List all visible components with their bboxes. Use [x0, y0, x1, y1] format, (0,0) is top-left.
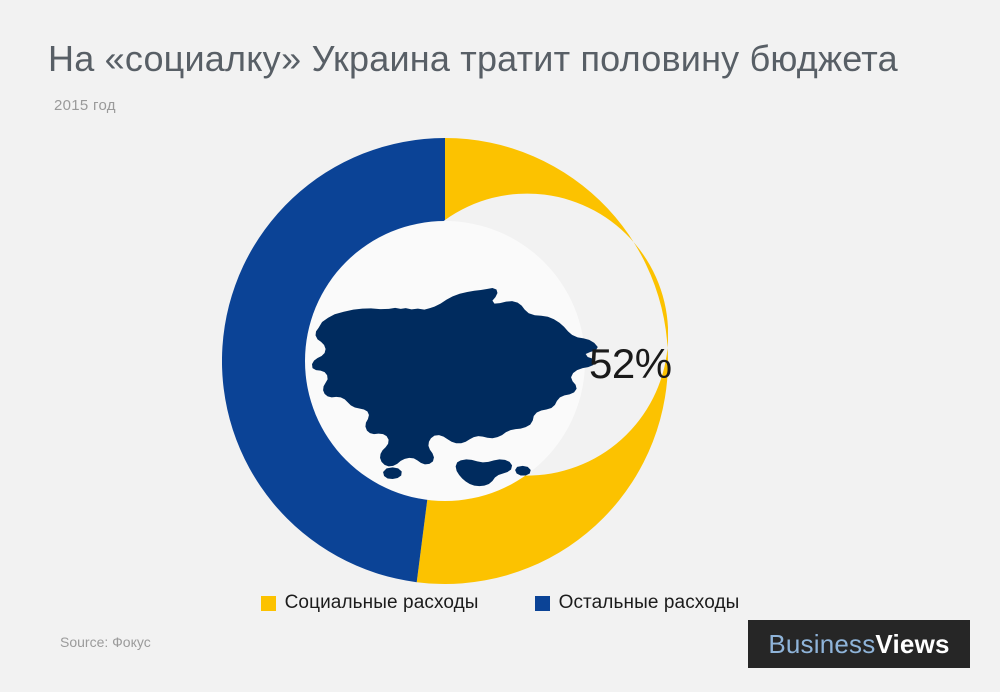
legend-swatch-social-icon — [261, 596, 276, 611]
page-subtitle: 2015 год — [54, 97, 116, 114]
logo-text-views: Views — [875, 629, 949, 659]
legend-item-social[interactable]: Социальные расходы — [261, 592, 479, 614]
infographic-canvas: На «социалку» Украина тратит половину бю… — [0, 0, 1000, 692]
percent-label-social: 52% — [589, 340, 672, 388]
source-note: Source: Фокус — [60, 634, 151, 650]
legend-label-social: Социальные расходы — [285, 592, 479, 614]
legend-swatch-other-icon — [535, 596, 550, 611]
businessviews-logo[interactable]: BusinessViews — [748, 620, 970, 668]
logo-text: BusinessViews — [768, 629, 949, 660]
page-title: На «социалку» Украина тратит половину бю… — [48, 38, 968, 80]
legend-label-other: Остальные расходы — [559, 592, 740, 614]
logo-text-business: Business — [768, 629, 875, 659]
chart-legend: Социальные расходы Остальные расходы — [0, 592, 1000, 614]
legend-item-other[interactable]: Остальные расходы — [535, 592, 740, 614]
